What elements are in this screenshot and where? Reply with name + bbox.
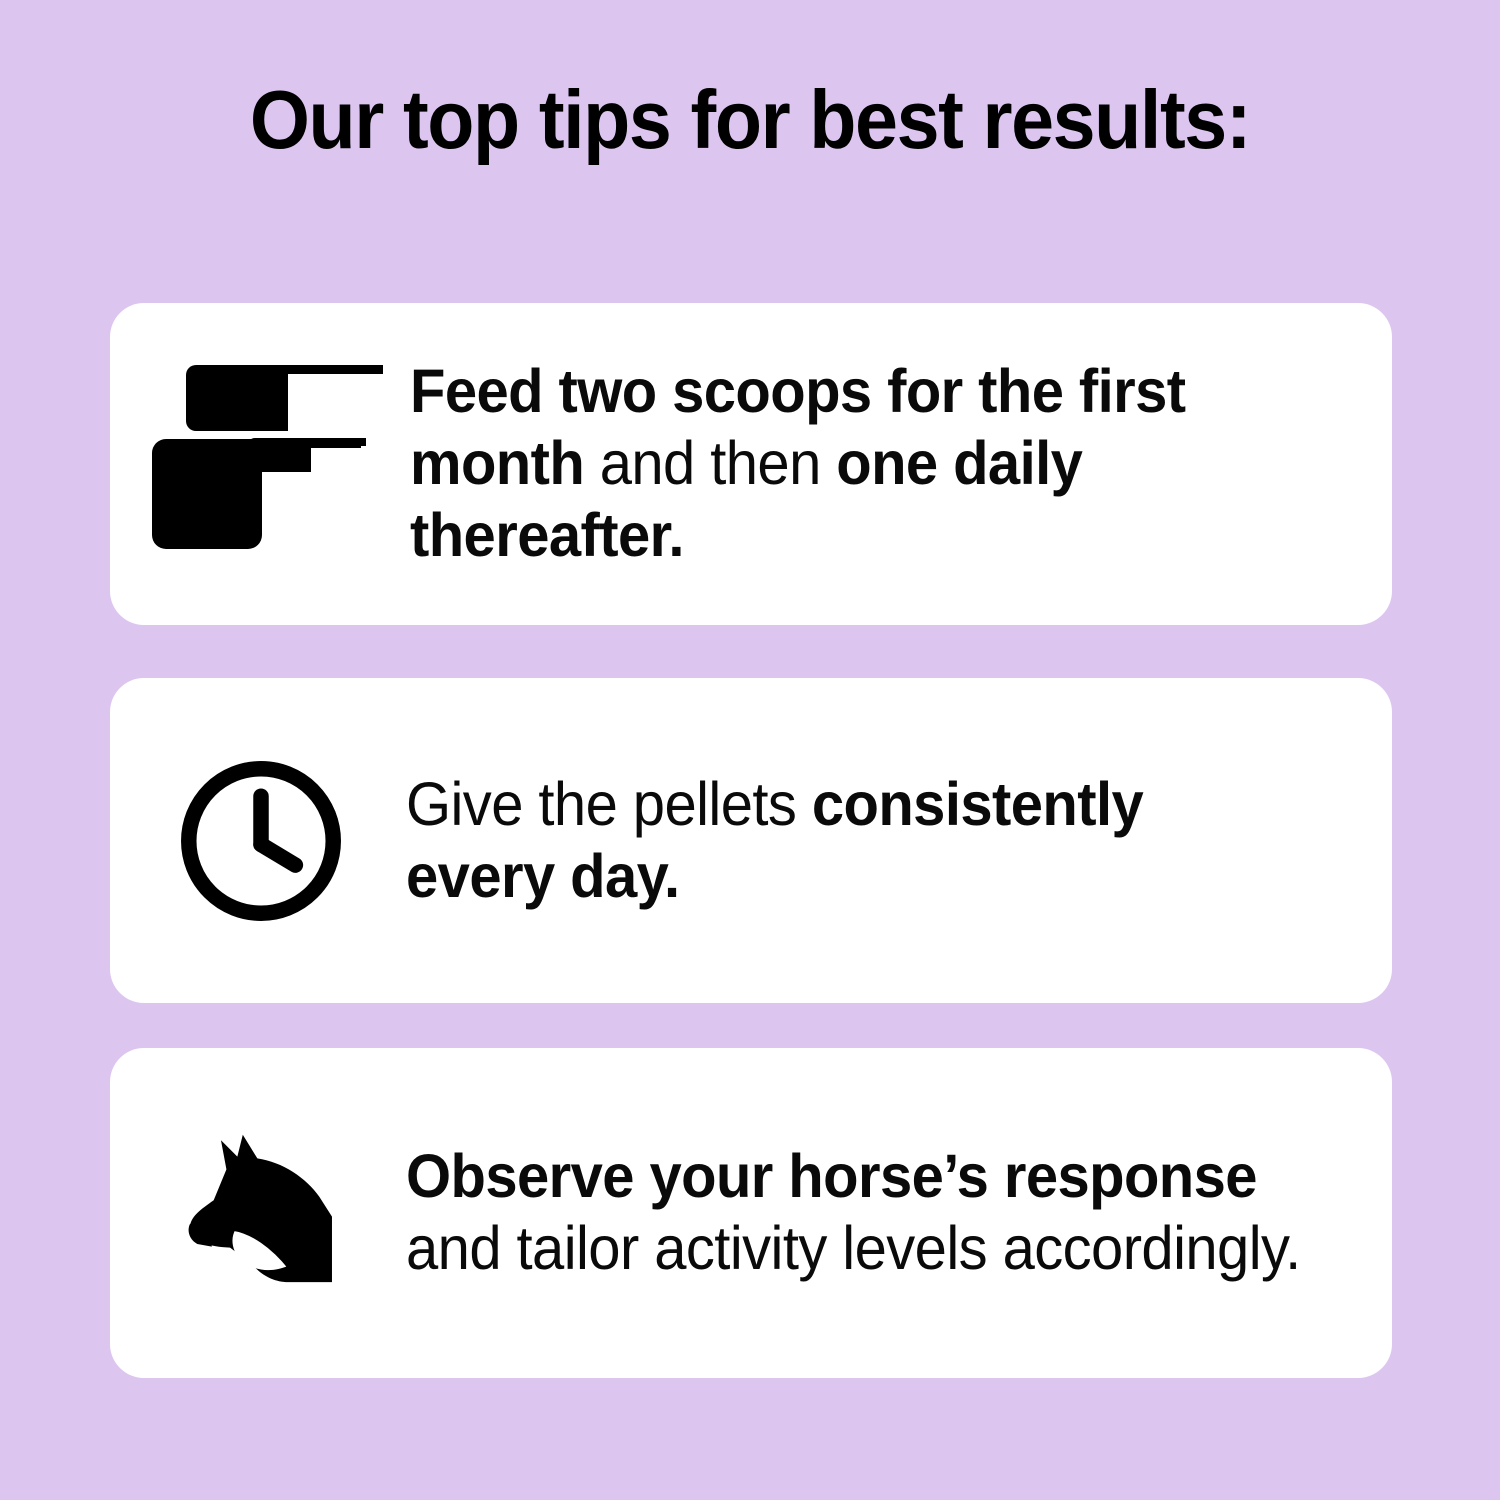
tip-card-2-text: Give the pellets consistently every day. [406, 769, 1343, 913]
horse-head-icon [170, 1122, 352, 1304]
tip-card-1: Feed two scoops for the first month and … [110, 303, 1392, 625]
tip-card-3-icon-wrap [110, 1122, 406, 1304]
tip-card-3-segment-2: and tailor activity levels accordingly. [406, 1214, 1301, 1282]
page-title: Our top tips for best results: [53, 78, 1448, 161]
tip-card-1-icon-wrap [110, 357, 410, 572]
tip-card-2-segment-1: Give the pellets [406, 770, 812, 838]
tip-card-3-segment-1: Observe your horse’s response [406, 1142, 1257, 1210]
tip-card-1-text: Feed two scoops for the first month and … [410, 356, 1343, 572]
tip-card-3: Observe your horse’s response and tailor… [110, 1048, 1392, 1378]
tip-card-3-text: Observe your horse’s response and tailor… [406, 1141, 1343, 1285]
tip-card-1-segment-2: and then [584, 429, 836, 497]
tips-infographic: Our top tips for best results: [0, 0, 1500, 1500]
tip-card-2: Give the pellets consistently every day. [110, 678, 1392, 1003]
scoops-icon [147, 357, 383, 572]
tips-card-list: Feed two scoops for the first month and … [110, 303, 1392, 1378]
tip-card-2-icon-wrap [110, 755, 406, 927]
clock-icon [175, 755, 347, 927]
